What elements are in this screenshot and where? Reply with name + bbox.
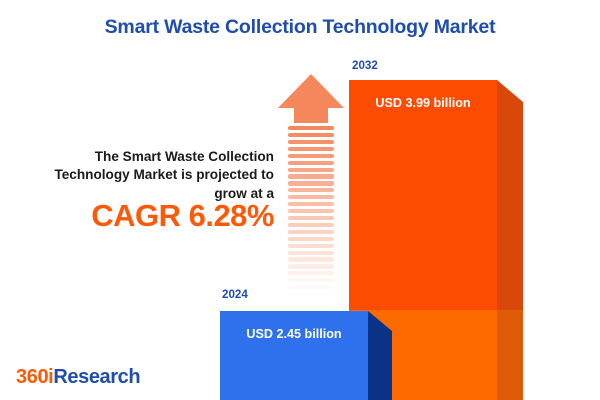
bar-2024-front-face [220, 311, 368, 400]
brand-logo-research: Research [53, 366, 140, 388]
bar-2024-value-label: USD 2.45 billion [220, 327, 368, 341]
brand-logo[interactable]: 360iResearch [16, 366, 140, 389]
bar-2032-side-face-lower [497, 310, 523, 400]
bar-2024-year-label: 2024 [222, 288, 248, 301]
bar-2032-value-label: USD 3.99 billion [349, 96, 497, 110]
brand-logo-360i: 360i [16, 366, 53, 388]
bar-2032-year-label: 2032 [352, 59, 378, 72]
bar-chart: 2032 USD 3.99 billion 2024 USD 2.45 bill… [0, 0, 600, 400]
infographic-canvas: Smart Waste Collection Technology Market… [0, 0, 600, 400]
